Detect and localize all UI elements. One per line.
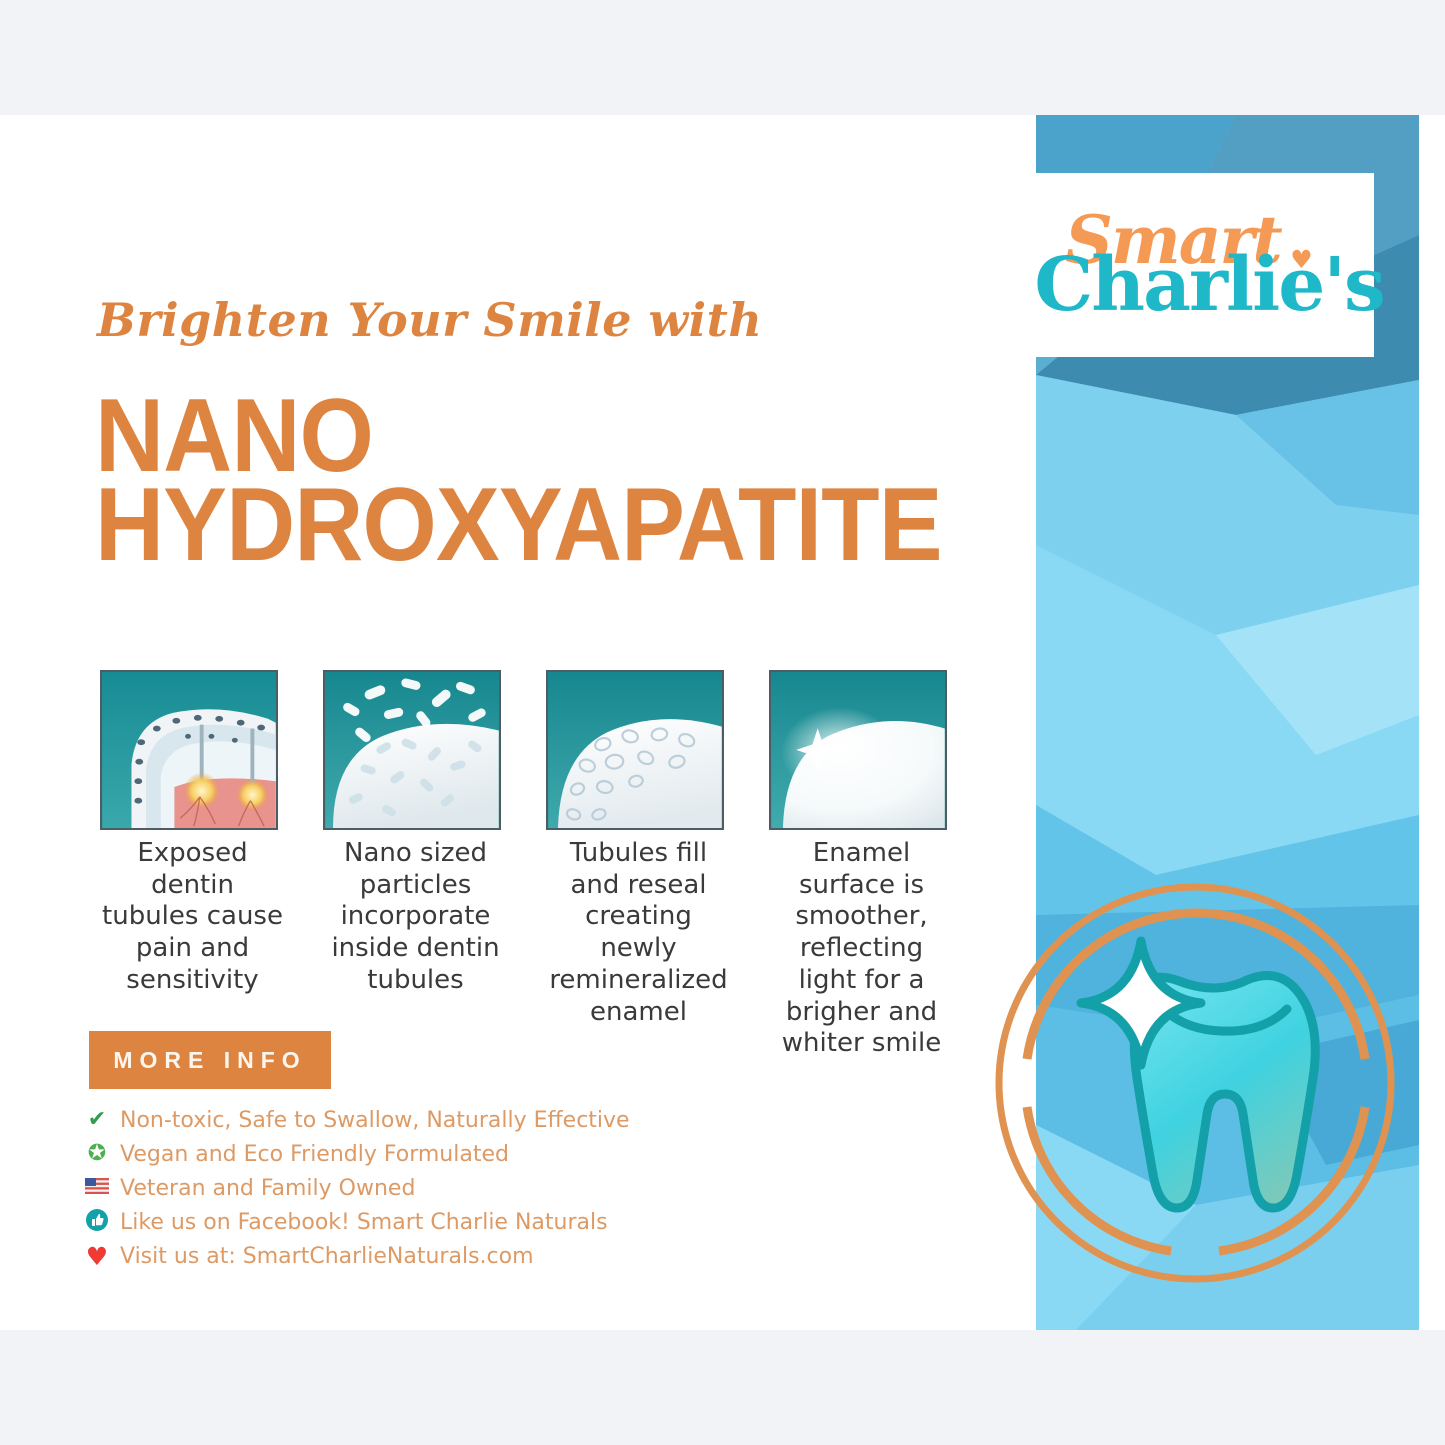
list-item: ✪ Vegan and Eco Friendly Formulated — [84, 1137, 704, 1171]
check-mark-icon: ✔ — [84, 1109, 110, 1131]
step-panel-4: Enamel surface is smoother, reflecting l… — [769, 670, 954, 1060]
title-line-hydroxyapatite: HYDROXYAPATITE — [95, 481, 942, 570]
exposed-dentin-tubules-image — [100, 670, 278, 830]
logo-charlies-text: Charlie's — [1034, 242, 1383, 328]
smooth-enamel-image — [769, 670, 947, 830]
list-item-label: Non-toxic, Safe to Swallow, Naturally Ef… — [120, 1108, 630, 1133]
step-caption: Tubules fill and reseal creating newly r… — [546, 838, 731, 1028]
us-flag-icon — [84, 1177, 110, 1199]
logo-word-charlies: Charlie's ♥ — [1034, 253, 1383, 318]
benefits-list: ✔ Non-toxic, Safe to Swallow, Naturally … — [84, 1103, 704, 1273]
step-caption: Enamel surface is smoother, reflecting l… — [769, 838, 954, 1060]
list-item[interactable]: Like us on Facebook! Smart Charlie Natur… — [84, 1205, 704, 1239]
dentin-illustration — [102, 672, 276, 828]
tooth-badge-graphic — [975, 863, 1415, 1303]
resealed-tubules-illustration — [548, 672, 722, 828]
step-panel-2: Nano sized particles incorporate inside … — [323, 670, 508, 997]
heart-icon: ♥ — [1290, 249, 1310, 271]
thumbs-up-glyph — [85, 1208, 109, 1232]
tubules-resealed-image — [546, 670, 724, 830]
step-caption: Nano sized particles incorporate inside … — [323, 838, 508, 997]
vegan-badge-icon: ✪ — [84, 1143, 110, 1165]
list-item-label: Like us on Facebook! Smart Charlie Natur… — [120, 1210, 608, 1235]
tooth-sparkle-logo — [975, 863, 1415, 1303]
brand-logo[interactable]: Smart Charlie's ♥ — [1036, 173, 1374, 357]
thumbs-up-icon — [84, 1208, 110, 1237]
list-item-label: Veteran and Family Owned — [120, 1176, 415, 1201]
nano-particles-image — [323, 670, 501, 830]
step-caption: Exposed dentin tubules cause pain and se… — [100, 838, 285, 997]
page-title: NANO HYDROXYAPATITE — [95, 392, 942, 571]
more-info-button[interactable]: MORE INFO — [89, 1031, 331, 1089]
nano-particles-illustration — [325, 672, 499, 828]
list-item: ✔ Non-toxic, Safe to Swallow, Naturally … — [84, 1103, 704, 1137]
step-panel-1: Exposed dentin tubules cause pain and se… — [100, 670, 285, 997]
list-item[interactable]: ♥ Visit us at: SmartCharlieNaturals.com — [84, 1239, 704, 1273]
us-flag-glyph — [85, 1178, 109, 1194]
step-panel-3: Tubules fill and reseal creating newly r… — [546, 670, 731, 1028]
smooth-enamel-illustration — [771, 672, 945, 828]
list-item-label: Visit us at: SmartCharlieNaturals.com — [120, 1244, 534, 1269]
poster-canvas: Smart Charlie's ♥ Brighten Your Smile wi… — [0, 115, 1445, 1330]
red-heart-icon: ♥ — [84, 1244, 110, 1269]
list-item: Veteran and Family Owned — [84, 1171, 704, 1205]
list-item-label: Vegan and Eco Friendly Formulated — [120, 1142, 509, 1167]
script-tagline: Brighten Your Smile with — [97, 293, 762, 347]
